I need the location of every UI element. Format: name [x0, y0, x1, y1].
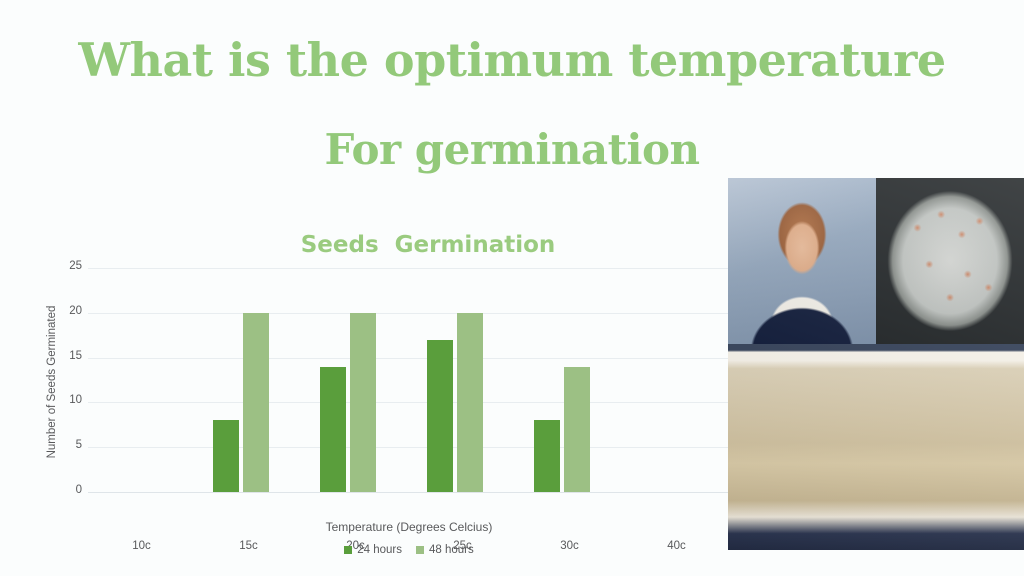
incubator-water-bath-photo — [728, 344, 1024, 550]
student-portrait-photo — [728, 178, 876, 344]
legend-label: 24 hours — [357, 544, 402, 556]
bar — [213, 420, 239, 492]
photo-tint-overlay — [876, 178, 1024, 344]
bar-group — [623, 268, 730, 492]
photo-tint-overlay — [728, 178, 876, 344]
bar-chart: Seeds Germination Number of Seeds Germin… — [18, 226, 730, 566]
bar-group — [409, 268, 516, 492]
bar — [350, 313, 376, 492]
gridline — [88, 492, 730, 493]
bar — [320, 367, 346, 492]
bar — [534, 420, 560, 492]
y-axis-tick-label: 10 — [54, 394, 82, 406]
bar-group — [516, 268, 623, 492]
legend-entry[interactable]: 24 hours — [344, 544, 402, 556]
chart-title: Seeds Germination — [108, 232, 748, 258]
y-axis-tick-label: 15 — [54, 350, 82, 362]
bar-group — [195, 268, 302, 492]
plot-area: 2520151050 10c15c20c25c30c40c — [88, 268, 730, 492]
x-axis-title: Temperature (Degrees Celcius) — [88, 520, 730, 534]
petri-dish-seeds-photo — [876, 178, 1024, 344]
chart-legend: 24 hours48 hours — [88, 544, 730, 556]
legend-entry[interactable]: 48 hours — [416, 544, 474, 556]
bar — [564, 367, 590, 492]
slide-headline-line-1: What is the optimum temperature — [0, 32, 1024, 88]
y-axis-tick-label: 20 — [54, 305, 82, 317]
y-axis-tick-label: 25 — [54, 260, 82, 272]
bar — [457, 313, 483, 492]
bar-group — [88, 268, 195, 492]
slide-canvas: What is the optimum temperature For germ… — [0, 0, 1024, 576]
photo-tint-overlay — [728, 344, 1024, 550]
y-axis-tick-label: 5 — [54, 439, 82, 451]
legend-swatch-icon — [416, 546, 424, 554]
y-axis-title: Number of Seeds Germinated — [46, 262, 58, 502]
legend-swatch-icon — [344, 546, 352, 554]
slide-headline-line-2: For germination — [0, 124, 1024, 176]
bar — [243, 313, 269, 492]
bar — [427, 340, 453, 492]
y-axis-tick-label: 0 — [54, 484, 82, 496]
photo-collage — [728, 178, 1024, 550]
legend-label: 48 hours — [429, 544, 474, 556]
bar-group — [302, 268, 409, 492]
